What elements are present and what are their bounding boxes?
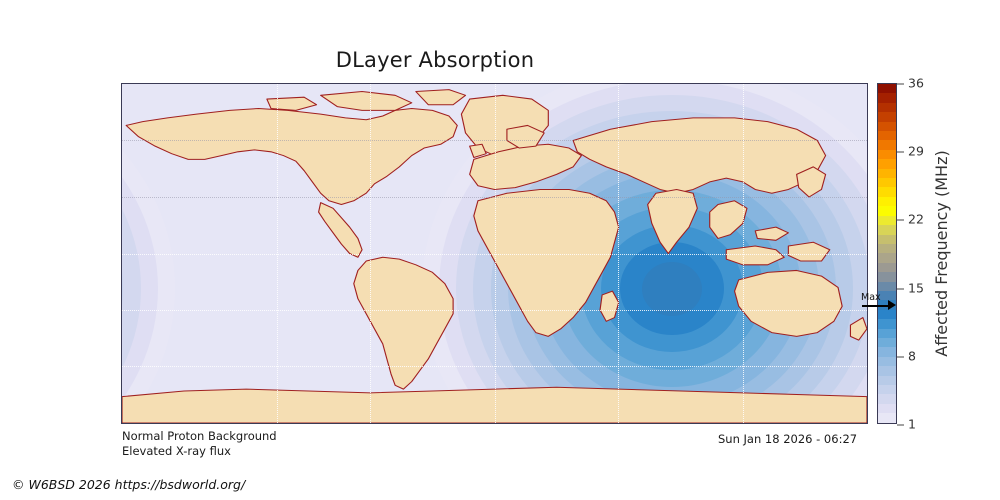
colorbar-segment — [878, 385, 896, 394]
colorbar-axis-label: Affected Frequency (MHz) — [931, 83, 953, 424]
colorbar-max-marker: Max — [861, 292, 901, 318]
status-line-xray: Elevated X-ray flux — [122, 444, 277, 459]
colorbar-segment — [878, 169, 896, 178]
colorbar-segment — [878, 93, 896, 102]
status-line-proton: Normal Proton Background — [122, 429, 277, 444]
colorbar-segment — [878, 413, 896, 422]
status-text: Normal Proton Background Elevated X-ray … — [122, 429, 277, 459]
colorbar-segment — [878, 216, 896, 225]
colorbar-segment — [878, 253, 896, 262]
colorbar-segment — [878, 122, 896, 131]
colorbar-segment — [878, 404, 896, 413]
colorbar-segment — [878, 235, 896, 244]
max-arrow-shaft-icon — [862, 305, 890, 307]
colorbar-segment — [878, 394, 896, 403]
colorbar-segment — [878, 159, 896, 168]
colorbar-tick-1: 1 — [897, 417, 916, 432]
world-map-panel[interactable] — [121, 83, 868, 424]
colorbar — [877, 83, 897, 424]
colorbar-tick-22: 22 — [897, 212, 924, 227]
page-title: DLayer Absorption — [0, 48, 870, 72]
colorbar-segment — [878, 347, 896, 356]
colorbar-segment — [878, 178, 896, 187]
colorbar-segment — [878, 319, 896, 328]
colorbar-tick-36: 36 — [897, 76, 924, 91]
dlayer-absorption-map-view: DLayer Absorption — [0, 0, 1000, 500]
copyright-notice: © W6BSD 2026 https://bsdworld.org/ — [12, 477, 245, 492]
colorbar-segment — [878, 131, 896, 140]
colorbar-segment — [878, 338, 896, 347]
colorbar-segment — [878, 197, 896, 206]
colorbar-tick-8: 8 — [897, 348, 916, 363]
max-marker-label: Max — [861, 292, 881, 303]
max-arrow-head-icon — [888, 300, 896, 310]
colorbar-segment — [878, 357, 896, 366]
colorbar-segment — [878, 244, 896, 253]
timestamp: Sun Jan 18 2026 - 06:27 — [718, 432, 857, 446]
colorbar-segment — [878, 140, 896, 149]
colorbar-segment — [878, 376, 896, 385]
colorbar-tick-15: 15 — [897, 280, 924, 295]
colorbar-segment — [878, 206, 896, 215]
colorbar-tick-29: 29 — [897, 144, 924, 159]
colorbar-segment — [878, 84, 896, 93]
colorbar-segment — [878, 272, 896, 281]
coastline-layer — [122, 84, 867, 423]
colorbar-segment — [878, 103, 896, 112]
map-clip — [122, 84, 867, 423]
colorbar-segment — [878, 282, 896, 291]
colorbar-segment — [878, 150, 896, 159]
colorbar-segment — [878, 225, 896, 234]
colorbar-segment — [878, 187, 896, 196]
colorbar-segment — [878, 366, 896, 375]
colorbar-segment — [878, 263, 896, 272]
colorbar-segment — [878, 112, 896, 121]
colorbar-segment — [878, 329, 896, 338]
